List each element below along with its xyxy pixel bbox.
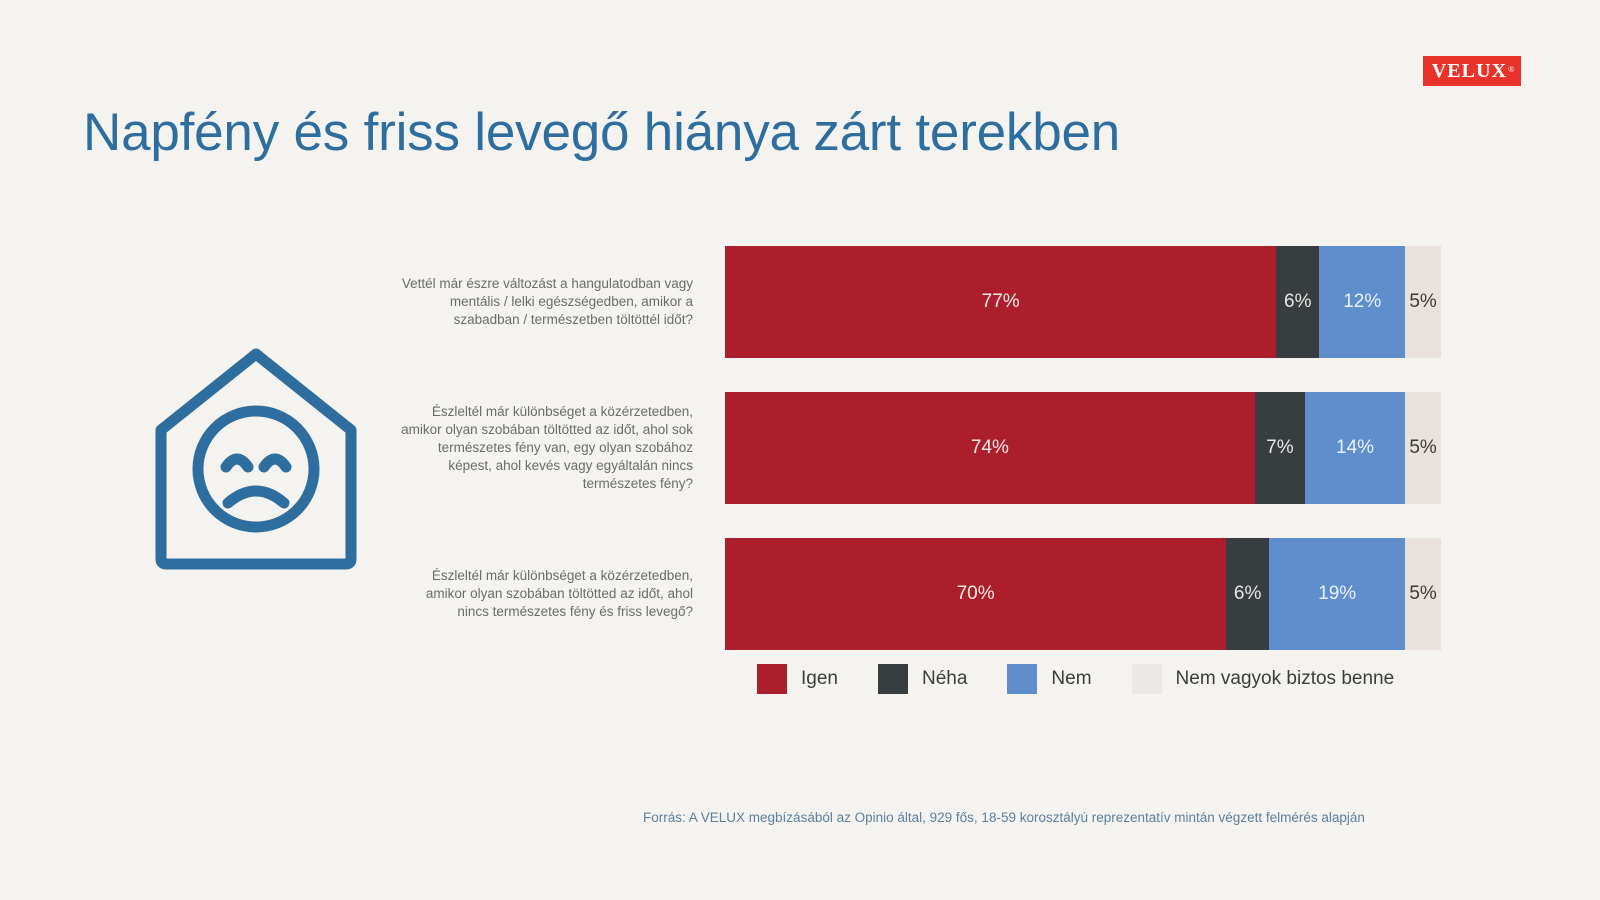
legend-label-neha: Néha <box>922 668 967 690</box>
bar-segment-neha: 6% <box>1226 538 1269 650</box>
bar-segment-value: 5% <box>1409 291 1436 313</box>
legend-item-nem-vagyok-biztos-benne: Nem vagyok biztos benne <box>1132 664 1395 694</box>
bar-segment-value: 5% <box>1409 437 1436 459</box>
bar-segment-neha: 7% <box>1255 392 1305 504</box>
legend-label-nem-vagyok-biztos-benne: Nem vagyok biztos benne <box>1176 668 1395 690</box>
chart-row-label: Észleltél már különbséget a közérzetedbe… <box>400 567 725 621</box>
bar-segment-value: 7% <box>1266 437 1293 459</box>
bar-segment-value: 6% <box>1284 291 1311 313</box>
legend-item-neha: Néha <box>878 664 967 694</box>
legend-label-igen: Igen <box>801 668 838 690</box>
source-note: Forrás: A VELUX megbízásából az Opinio á… <box>643 810 1365 825</box>
bar-segment-nem: 12% <box>1319 246 1405 358</box>
bar-segment-value: 77% <box>982 291 1020 313</box>
bar-segment-value: 74% <box>971 437 1009 459</box>
bar-segment-value: 5% <box>1409 583 1436 605</box>
bar-segment-nem-vagyok-biztos: 5% <box>1405 246 1441 358</box>
bar-segment-neha: 6% <box>1276 246 1319 358</box>
legend-swatch-nem <box>1007 664 1037 694</box>
stacked-bar: 70% 6% 19% 5% <box>725 538 1441 650</box>
chart-row-label: Észleltél már különbséget a közérzetedbe… <box>400 403 725 493</box>
bar-segment-igen: 70% <box>725 538 1226 650</box>
chart-row: Észleltél már különbséget a közérzetedbe… <box>400 392 1475 504</box>
legend-item-nem: Nem <box>1007 664 1091 694</box>
legend-swatch-nem-vagyok-biztos-benne <box>1132 664 1162 694</box>
bar-segment-nem: 14% <box>1305 392 1405 504</box>
bar-segment-nem-vagyok-biztos: 5% <box>1405 538 1441 650</box>
bar-segment-value: 12% <box>1343 291 1381 313</box>
legend-swatch-igen <box>757 664 787 694</box>
chart-legend: Igen Néha Nem Nem vagyok biztos benne <box>757 664 1434 694</box>
bar-segment-value: 19% <box>1318 583 1356 605</box>
chart-row: Vettél már észre változást a hangulatodb… <box>400 246 1475 358</box>
stacked-bar-chart: Vettél már észre változást a hangulatodb… <box>0 0 1600 900</box>
chart-row: Észleltél már különbséget a közérzetedbe… <box>400 538 1475 650</box>
bar-segment-value: 6% <box>1234 583 1261 605</box>
chart-row-label: Vettél már észre változást a hangulatodb… <box>400 275 725 329</box>
legend-swatch-neha <box>878 664 908 694</box>
bar-segment-igen: 77% <box>725 246 1276 358</box>
bar-segment-nem-vagyok-biztos: 5% <box>1405 392 1441 504</box>
stacked-bar: 74% 7% 14% 5% <box>725 392 1441 504</box>
bar-segment-value: 70% <box>957 583 995 605</box>
bar-segment-igen: 74% <box>725 392 1255 504</box>
stacked-bar: 77% 6% 12% 5% <box>725 246 1441 358</box>
bar-segment-nem: 19% <box>1269 538 1405 650</box>
bar-segment-value: 14% <box>1336 437 1374 459</box>
legend-label-nem: Nem <box>1051 668 1091 690</box>
legend-item-igen: Igen <box>757 664 838 694</box>
